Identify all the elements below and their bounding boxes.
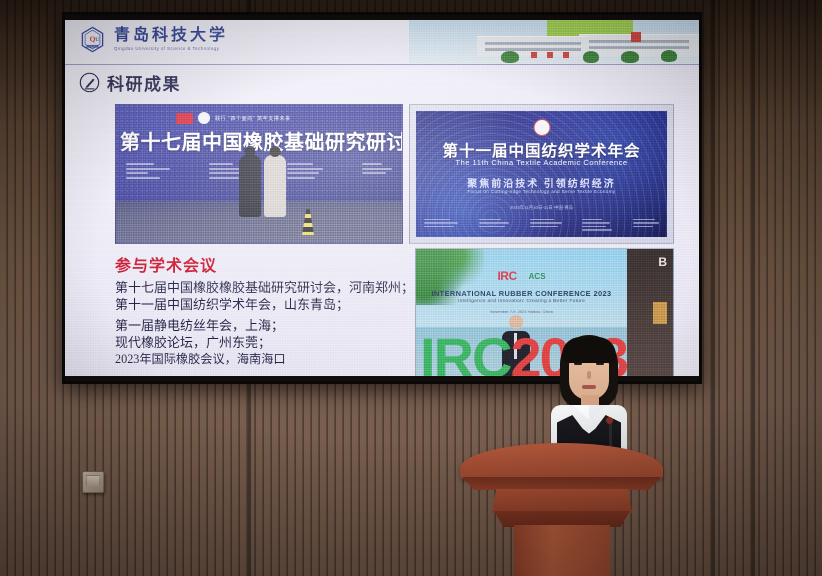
textile-seal-icon bbox=[533, 119, 550, 136]
irc-logo-icon: IRC bbox=[497, 269, 516, 283]
rubber-seal-icon bbox=[198, 112, 210, 124]
projection-screen: Q U 青岛科技大学 Qingdao University of Science… bbox=[62, 12, 702, 384]
university-name-cn: 青岛科技大学 bbox=[114, 28, 228, 44]
section-title: 科研成果 bbox=[107, 70, 181, 95]
presentation-slide: Q U 青岛科技大学 Qingdao University of Science… bbox=[65, 20, 699, 376]
wall-seam bbox=[712, 0, 715, 576]
conference-list-item: 2023年国际橡胶会议，海南海口 bbox=[115, 351, 405, 368]
wall-seam bbox=[752, 0, 755, 576]
microphone-tip bbox=[606, 417, 613, 424]
irc-heading: INTERNATIONAL RUBBER CONFERENCE 2023 bbox=[416, 289, 627, 298]
textile-banner-slogan-cn: 聚焦前沿技术 引领纺织经济 bbox=[416, 175, 667, 190]
slide-header: Q U 青岛科技大学 Qingdao University of Science… bbox=[65, 20, 699, 64]
photo-person bbox=[239, 155, 261, 217]
university-name-en: Qingdao University of Science & Technolo… bbox=[114, 47, 228, 51]
conference-list-item: 第十一届中国纺织学术年会，山东青岛； bbox=[115, 297, 405, 314]
irc-logo-row: IRC ACS bbox=[416, 269, 627, 283]
university-seal-icon: Q U bbox=[79, 26, 106, 53]
irc-big-text-green: IRC bbox=[420, 326, 510, 376]
pen-icon bbox=[79, 72, 100, 93]
conference-list-item: 现代橡胶论坛，广州东莞； bbox=[115, 335, 405, 352]
university-logo-row: Q U 青岛科技大学 Qingdao University of Science… bbox=[79, 26, 228, 53]
photo-rubber-symposium: 践行 “四个面向” 筑牢支撑未来 第十七届中国橡胶基础研究研讨会 bbox=[115, 104, 403, 244]
irc-date-line: November 7-9, 2023 Haikou, China bbox=[416, 309, 627, 314]
conference-list-item: 第十七届中国橡胶橡胶基础研究研讨会，河南郑州； bbox=[115, 280, 405, 297]
rubber-banner-toprow: 践行 “四个面向” 筑牢支撑未来 bbox=[176, 112, 291, 124]
light-switch[interactable] bbox=[82, 471, 104, 493]
rubber-banner-slogan: 践行 “四个面向” 筑牢支撑未来 bbox=[215, 115, 291, 122]
textile-banner-slogan-en: Focus on Cutting-edge Technology and Ser… bbox=[416, 189, 667, 194]
textile-banner-date: 2023年11月10日-11日 中国·青岛 bbox=[416, 205, 667, 211]
photo-textile-conference: 第十一届中国纺织学术年会 The 11th China Textile Acad… bbox=[409, 104, 674, 244]
header-divider bbox=[65, 64, 699, 65]
rubber-logo-icon bbox=[176, 113, 193, 124]
campus-building-photo bbox=[409, 20, 699, 64]
svg-text:U: U bbox=[95, 37, 99, 43]
textile-banner-columns bbox=[424, 219, 659, 231]
conference-list-item: 第一届静电纺丝年会，上海； bbox=[115, 318, 405, 335]
rubber-banner-title: 第十七届中国橡胶基础研究研讨会 bbox=[120, 126, 402, 155]
conference-list-block: 参与学术会议 第十七届中国橡胶橡胶基础研究研讨会，河南郑州； 第十一届中国纺织学… bbox=[115, 252, 405, 368]
irc-subheading: Intelligence and Innovation: Creating a … bbox=[416, 299, 627, 304]
photo-person bbox=[264, 155, 286, 217]
acs-logo-icon: ACS bbox=[529, 272, 546, 281]
podium bbox=[452, 443, 671, 576]
conference-list-heading: 参与学术会议 bbox=[115, 252, 405, 276]
textile-banner-subtitle: The 11th China Textile Academic Conferen… bbox=[416, 158, 667, 167]
section-title-row: 科研成果 bbox=[79, 70, 181, 95]
irc-corner-letter: B bbox=[658, 255, 667, 269]
university-name: 青岛科技大学 Qingdao University of Science & T… bbox=[114, 28, 228, 51]
